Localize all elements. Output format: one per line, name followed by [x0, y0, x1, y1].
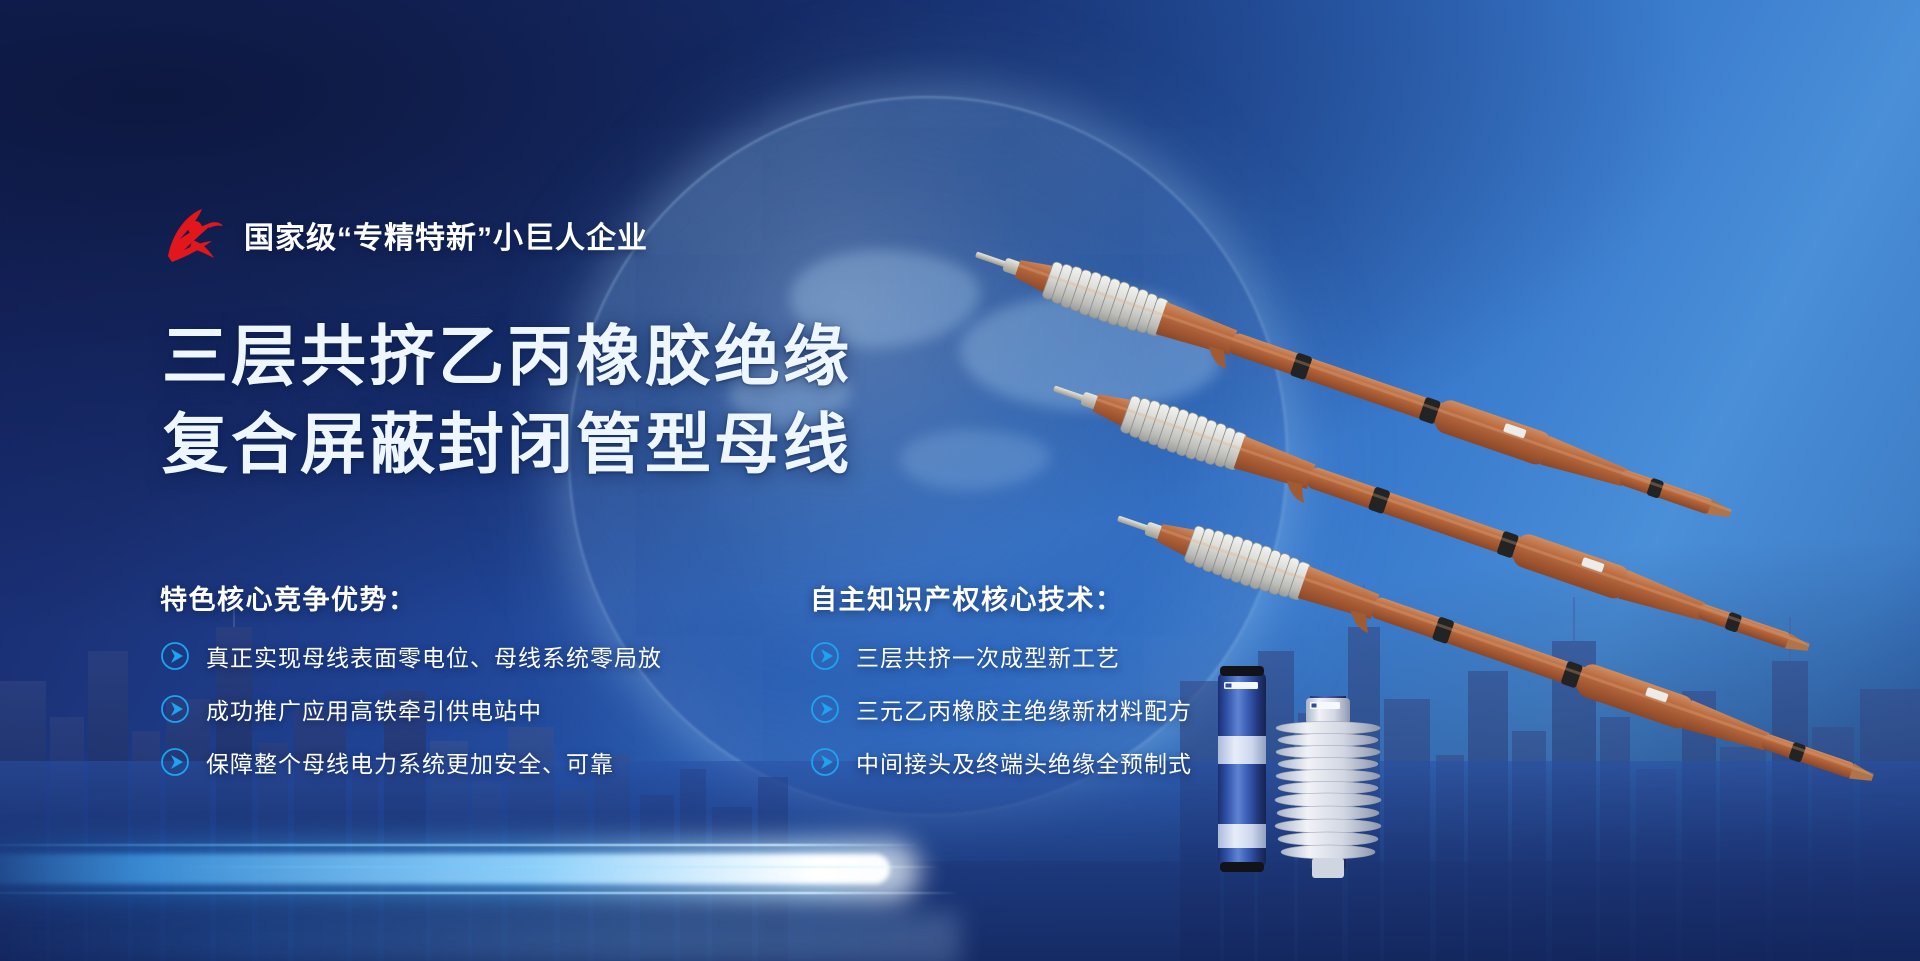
list-item: 成功推广应用高铁牵引供电站中: [160, 692, 720, 726]
list-item-label: 三层共挤一次成型新工艺: [856, 639, 1120, 673]
arrow-circle-icon: [160, 694, 190, 724]
arrow-circle-icon: [160, 641, 190, 671]
list-item: 三层共挤一次成型新工艺: [810, 639, 1370, 673]
feature-columns: 特色核心竞争优势： 真正实现母线表面零电位、母线系统零局放 成功推广应用高铁牵引…: [160, 578, 1370, 798]
list-item-label: 三元乙丙橡胶主绝缘新材料配方: [856, 692, 1192, 726]
page-title: 三层共挤乙丙橡胶绝缘 复合屏蔽封闭管型母线: [162, 312, 852, 489]
column-title: 特色核心竞争优势：: [160, 578, 720, 617]
list-item-label: 保障整个母线电力系统更加安全、可靠: [206, 745, 614, 779]
arrow-circle-icon: [160, 747, 190, 777]
headline-line-1: 三层共挤乙丙橡胶绝缘: [162, 312, 852, 400]
list-item-label: 中间接头及终端头绝缘全预制式: [856, 745, 1192, 779]
headline-line-2: 复合屏蔽封闭管型母线: [162, 400, 852, 488]
arrow-circle-icon: [810, 747, 840, 777]
column-title: 自主知识产权核心技术：: [810, 578, 1370, 617]
list-item: 保障整个母线电力系统更加安全、可靠: [160, 745, 720, 779]
badge-text: 国家级“专精特新”小巨人企业: [244, 213, 648, 257]
list-item-label: 成功推广应用高铁牵引供电站中: [206, 692, 542, 726]
national-little-giant-logo-icon: [162, 206, 226, 264]
list-item: 中间接头及终端头绝缘全预制式: [810, 745, 1370, 779]
list-item: 真正实现母线表面零电位、母线系统零局放: [160, 639, 720, 673]
badge: 国家级“专精特新”小巨人企业: [162, 206, 648, 264]
feature-column-advantages: 特色核心竞争优势： 真正实现母线表面零电位、母线系统零局放 成功推广应用高铁牵引…: [160, 578, 720, 798]
list-item-label: 真正实现母线表面零电位、母线系统零局放: [206, 639, 662, 673]
arrow-circle-icon: [810, 694, 840, 724]
list-item: 三元乙丙橡胶主绝缘新材料配方: [810, 692, 1370, 726]
feature-column-technologies: 自主知识产权核心技术： 三层共挤一次成型新工艺 三元乙丙橡胶主绝缘新材料配方: [810, 578, 1370, 798]
product-promo-banner: 国家级“专精特新”小巨人企业 三层共挤乙丙橡胶绝缘 复合屏蔽封闭管型母线 特色核…: [0, 0, 1920, 961]
arrow-circle-icon: [810, 641, 840, 671]
